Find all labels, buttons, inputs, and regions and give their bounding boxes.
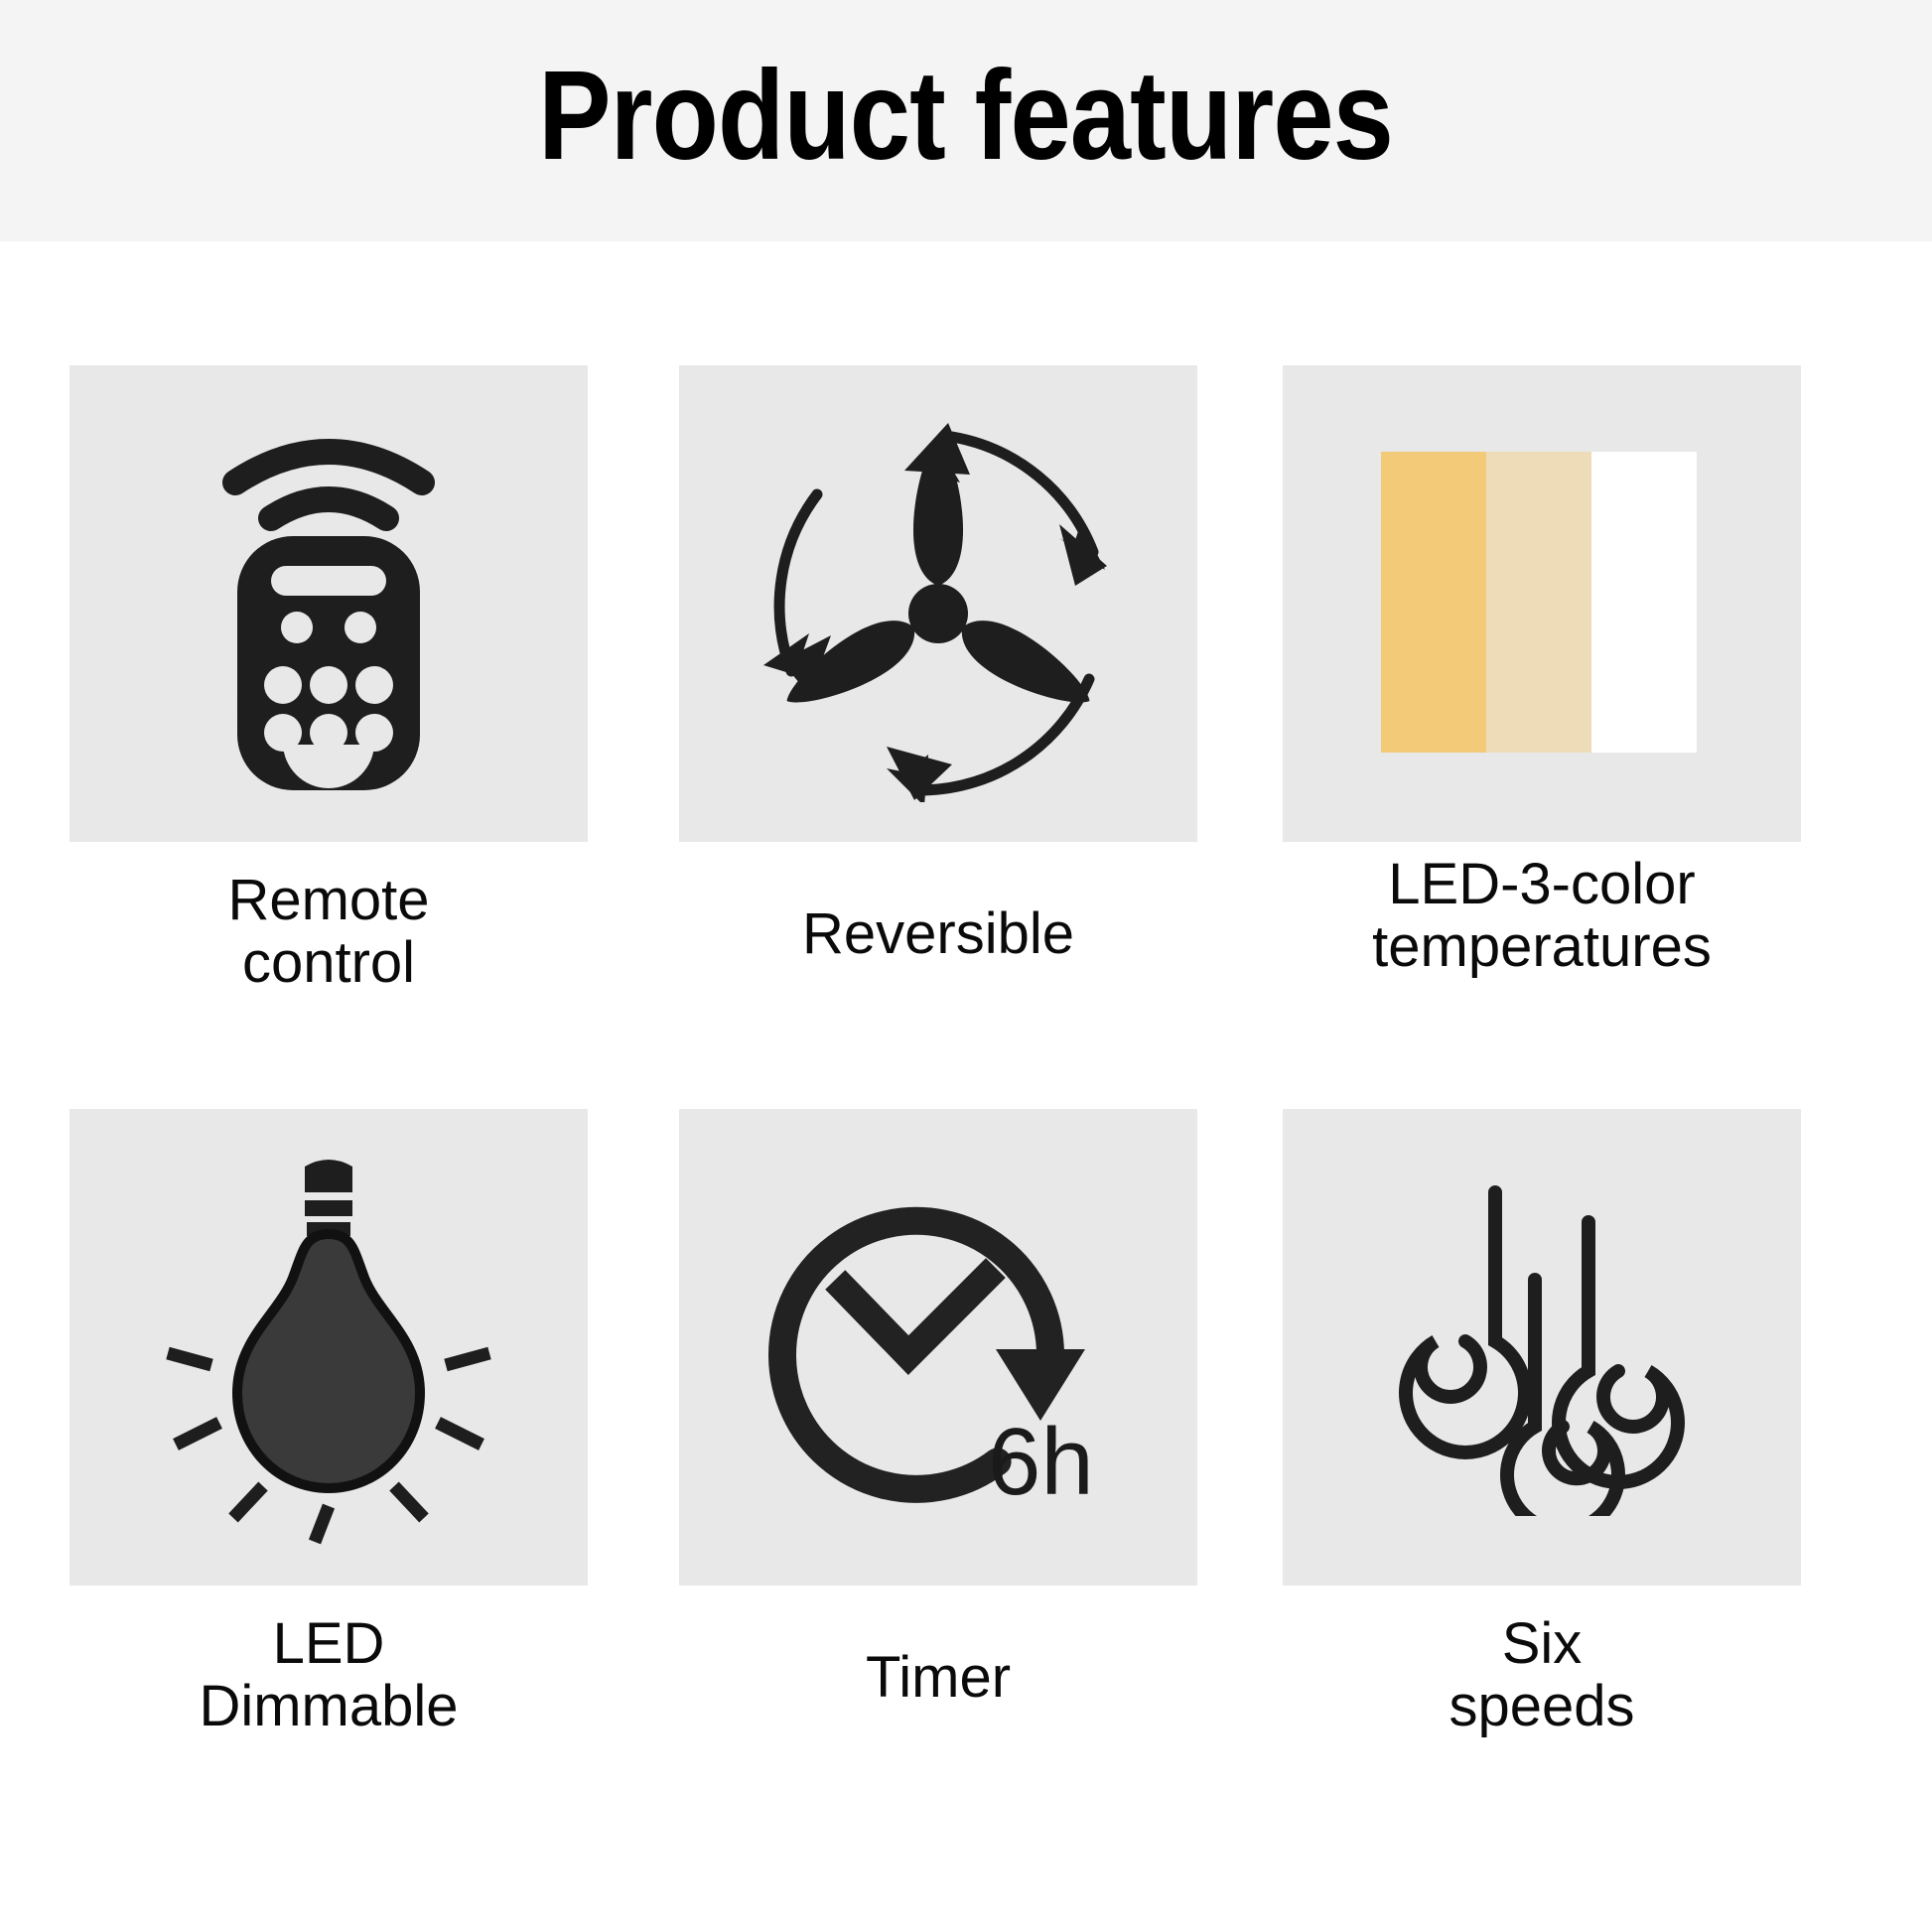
page-title: Product features xyxy=(539,53,1394,180)
timer-clock-icon: 6h xyxy=(750,1178,1127,1516)
feature-card-led-dimmable[interactable]: LED Dimmable xyxy=(69,1109,588,1737)
icon-tile-led-dimmable xyxy=(69,1109,588,1586)
feature-label-remote-control: Remote control xyxy=(51,842,607,994)
feature-card-six-speeds[interactable]: Six speeds xyxy=(1283,1109,1801,1737)
remote-control-keypad-icon xyxy=(180,655,478,794)
icon-tile-led-color-temperatures xyxy=(1283,365,1801,842)
feature-card-timer[interactable]: 6h Timer xyxy=(679,1109,1197,1710)
reversible-fan-icon xyxy=(740,405,1137,802)
feature-label-timer: Timer xyxy=(660,1586,1216,1710)
feature-label-led-color-temperatures: LED-3-color temperatures xyxy=(1264,842,1820,978)
icon-tile-six-speeds xyxy=(1283,1109,1801,1586)
header-band: Product features xyxy=(0,0,1932,241)
icon-tile-reversible xyxy=(679,365,1197,842)
feature-label-reversible: Reversible xyxy=(660,842,1216,966)
feature-card-remote-control[interactable]: Remote control xyxy=(69,365,588,994)
swatch-natural-white xyxy=(1486,452,1591,753)
color-temperature-swatches-icon xyxy=(1381,452,1697,753)
feature-label-six-speeds: Six speeds xyxy=(1264,1586,1820,1737)
swatch-warm-white xyxy=(1381,452,1486,753)
icon-tile-remote-control xyxy=(69,365,588,842)
icon-tile-timer: 6h xyxy=(679,1109,1197,1586)
features-grid: Remote control xyxy=(0,241,1932,1932)
wind-swirls-icon xyxy=(1378,1178,1706,1516)
feature-label-led-dimmable: LED Dimmable xyxy=(51,1586,607,1737)
swatch-cool-white xyxy=(1591,452,1697,753)
timer-duration-badge: 6h xyxy=(988,1409,1094,1515)
feature-card-reversible[interactable]: Reversible xyxy=(679,365,1197,966)
light-bulb-rays-icon xyxy=(140,1149,517,1546)
feature-card-led-color-temperatures[interactable]: LED-3-color temperatures xyxy=(1283,365,1801,978)
